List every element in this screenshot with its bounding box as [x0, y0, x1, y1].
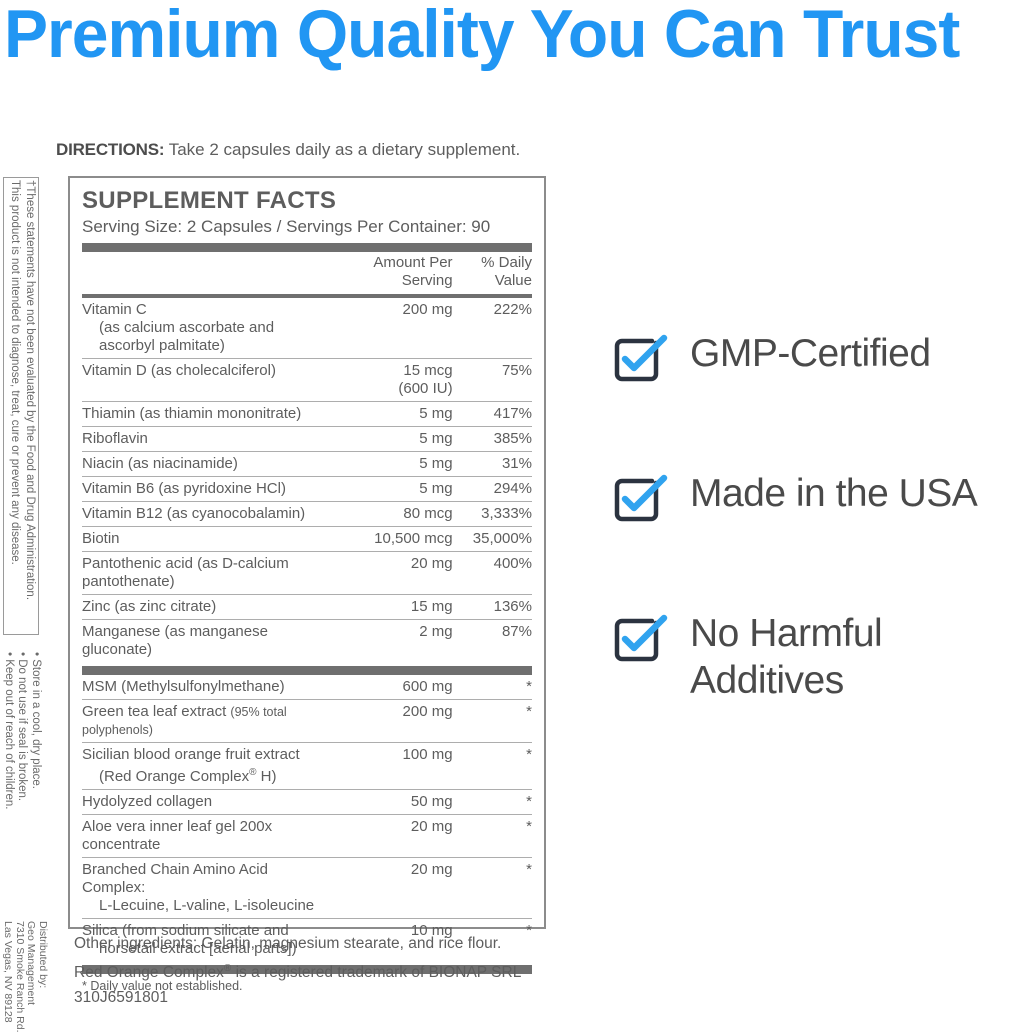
row-ingredient-name: Riboflavin: [82, 427, 332, 452]
table-row: Sicilian blood orange fruit extract(Red …: [82, 743, 532, 790]
feature-item: GMP-Certified: [612, 330, 1024, 386]
table-row: Vitamin B6 (as pyridoxine HCl)5 mg294%: [82, 477, 532, 502]
checkbox-checked-icon: [612, 614, 670, 666]
table-header-row: Amount Per Serving % Daily Value: [82, 252, 532, 293]
table-row: Riboflavin5 mg385%: [82, 427, 532, 452]
row-daily-value: *: [453, 675, 532, 700]
row-daily-value: 75%: [453, 359, 532, 402]
row-amount: 200 mg: [332, 298, 452, 359]
row-daily-value: *: [453, 743, 532, 790]
row-daily-value: 31%: [453, 452, 532, 477]
table-row: Biotin10,500 mcg35,000%: [82, 527, 532, 552]
row-ingredient-name: Vitamin D (as cholecalciferol): [82, 359, 332, 402]
serving-size-line: Serving Size: 2 Capsules / Servings Per …: [82, 215, 532, 239]
row-ingredient-name: Vitamin C(as calcium ascorbate and ascor…: [82, 298, 332, 359]
table-row: Vitamin D (as cholecalciferol)15 mcg(600…: [82, 359, 532, 402]
row-ingredient-subline: L-Lecuine, L-valine, L-isoleucine: [82, 897, 332, 915]
row-ingredient-name: Aloe vera inner leaf gel 200x concentrat…: [82, 815, 332, 858]
supplement-facts-panel: SUPPLEMENT FACTS Serving Size: 2 Capsule…: [68, 176, 546, 929]
checkbox-checked-icon: [612, 334, 670, 386]
table-row: MSM (Methylsulfonylmethane)600 mg*: [82, 675, 532, 700]
row-daily-value: 417%: [453, 402, 532, 427]
row-ingredient-name: Pantothenic acid (as D-calcium pantothen…: [82, 552, 332, 595]
table-row: Zinc (as zinc citrate)15 mg136%: [82, 595, 532, 620]
row-amount: 20 mg: [332, 815, 452, 858]
table-row: Niacin (as niacinamide)5 mg31%: [82, 452, 532, 477]
trademark-line: Red Orange Complex® is a registered trad…: [74, 956, 521, 985]
supplement-facts-title: SUPPLEMENT FACTS: [82, 186, 532, 216]
row-daily-value: 3,333%: [453, 502, 532, 527]
row-amount: 80 mcg: [332, 502, 452, 527]
row-amount: 15 mcg(600 IU): [332, 359, 452, 402]
directions-label: DIRECTIONS:: [56, 140, 164, 159]
row-amount: 50 mg: [332, 790, 452, 815]
row-ingredient-name: Biotin: [82, 527, 332, 552]
page-title: Premium Quality You Can Trust: [4, 0, 993, 74]
registered-mark: ®: [224, 963, 231, 974]
row-daily-value: *: [453, 790, 532, 815]
table-row: Branched Chain Amino Acid Complex:L-Lecu…: [82, 858, 532, 919]
row-ingredient-name: Manganese (as manganese gluconate): [82, 620, 332, 663]
row-ingredient-name: Thiamin (as thiamin mononitrate): [82, 402, 332, 427]
header-daily-value: % Daily Value: [453, 252, 532, 293]
row-amount: 5 mg: [332, 477, 452, 502]
table-row: Green tea leaf extract (95% total polyph…: [82, 700, 532, 743]
row-ingredient-name: Vitamin B6 (as pyridoxine HCl): [82, 477, 332, 502]
other-ingredients-line: Other ingredients: Gelatin, magnesium st…: [74, 931, 521, 956]
row-ingredient-name: Zinc (as zinc citrate): [82, 595, 332, 620]
row-daily-value: 87%: [453, 620, 532, 663]
storage-instructions-text: • Store in a cool, dry place.• Do not us…: [2, 652, 42, 910]
row-amount-secondary: (600 IU): [332, 380, 452, 398]
distributor-block: Distributed by:Geo Management7310 Smoke …: [2, 920, 46, 998]
row-amount: 5 mg: [332, 402, 452, 427]
lot-code-line: 310J6591801: [74, 985, 521, 1010]
distributor-text: Distributed by:Geo Management7310 Smoke …: [0, 921, 48, 997]
row-ingredient-subline: (Red Orange Complex® H): [82, 764, 332, 786]
row-ingredient-name: Branched Chain Amino Acid Complex:L-Lecu…: [82, 858, 332, 919]
row-amount: 2 mg: [332, 620, 452, 663]
row-daily-value: *: [453, 700, 532, 743]
row-amount: 20 mg: [332, 552, 452, 595]
table-row: Vitamin B12 (as cyanocobalamin)80 mcg3,3…: [82, 502, 532, 527]
header-amount-per-serving: Amount Per Serving: [332, 252, 452, 293]
table-row: Hydolyzed collagen50 mg*: [82, 790, 532, 815]
table-row: Thiamin (as thiamin mononitrate)5 mg417%: [82, 402, 532, 427]
row-amount: 600 mg: [332, 675, 452, 700]
row-amount: 5 mg: [332, 452, 452, 477]
row-ingredient-detail: (95% total polyphenols): [82, 705, 287, 737]
row-daily-value: 222%: [453, 298, 532, 359]
row-daily-value: 136%: [453, 595, 532, 620]
row-daily-value: *: [453, 815, 532, 858]
row-ingredient-name: Niacin (as niacinamide): [82, 452, 332, 477]
fda-disclaimer-text: †These statements have not been evaluate…: [5, 180, 37, 632]
row-daily-value: 385%: [453, 427, 532, 452]
row-amount: 100 mg: [332, 743, 452, 790]
row-ingredient-name: MSM (Methylsulfonylmethane): [82, 675, 332, 700]
row-amount: 5 mg: [332, 427, 452, 452]
divider-thick-top: [82, 243, 532, 252]
row-daily-value: 35,000%: [453, 527, 532, 552]
row-daily-value: *: [453, 858, 532, 919]
divider-thick-mid: [82, 666, 532, 675]
directions-text: Take 2 capsules daily as a dietary suppl…: [164, 140, 520, 159]
directions-line: DIRECTIONS: Take 2 capsules daily as a d…: [56, 139, 520, 161]
row-daily-value: 294%: [453, 477, 532, 502]
registered-mark: ®: [249, 767, 256, 778]
row-amount: 10,500 mcg: [332, 527, 452, 552]
row-amount: 20 mg: [332, 858, 452, 919]
below-panel-notes: Other ingredients: Gelatin, magnesium st…: [74, 931, 521, 1010]
table-row: Pantothenic acid (as D-calcium pantothen…: [82, 552, 532, 595]
table-row: Aloe vera inner leaf gel 200x concentrat…: [82, 815, 532, 858]
supplement-facts-table: Amount Per Serving % Daily Value: [82, 252, 532, 293]
feature-label: Made in the USA: [690, 470, 977, 517]
blend-table: MSM (Methylsulfonylmethane)600 mg*Green …: [82, 675, 532, 961]
storage-instructions: • Store in a cool, dry place.• Do not us…: [2, 650, 42, 912]
header-blank: [82, 252, 332, 293]
feature-list: GMP-CertifiedMade in the USANo HarmfulAd…: [612, 330, 1024, 788]
feature-label: No HarmfulAdditives: [690, 610, 882, 704]
feature-item: Made in the USA: [612, 470, 1024, 526]
row-ingredient-name: Vitamin B12 (as cyanocobalamin): [82, 502, 332, 527]
table-row: Manganese (as manganese gluconate)2 mg87…: [82, 620, 532, 663]
row-ingredient-name: Green tea leaf extract (95% total polyph…: [82, 700, 332, 743]
row-ingredient-name: Hydolyzed collagen: [82, 790, 332, 815]
row-amount: 200 mg: [332, 700, 452, 743]
row-ingredient-name: Sicilian blood orange fruit extract(Red …: [82, 743, 332, 790]
row-ingredient-subline: (as calcium ascorbate and ascorbyl palmi…: [82, 319, 332, 355]
vitamins-table: Vitamin C(as calcium ascorbate and ascor…: [82, 298, 532, 662]
feature-label: GMP-Certified: [690, 330, 931, 377]
row-daily-value: 400%: [453, 552, 532, 595]
table-row: Vitamin C(as calcium ascorbate and ascor…: [82, 298, 532, 359]
fda-disclaimer-box: †These statements have not been evaluate…: [3, 177, 39, 635]
feature-item: No HarmfulAdditives: [612, 610, 1024, 704]
checkbox-checked-icon: [612, 474, 670, 526]
row-amount: 15 mg: [332, 595, 452, 620]
